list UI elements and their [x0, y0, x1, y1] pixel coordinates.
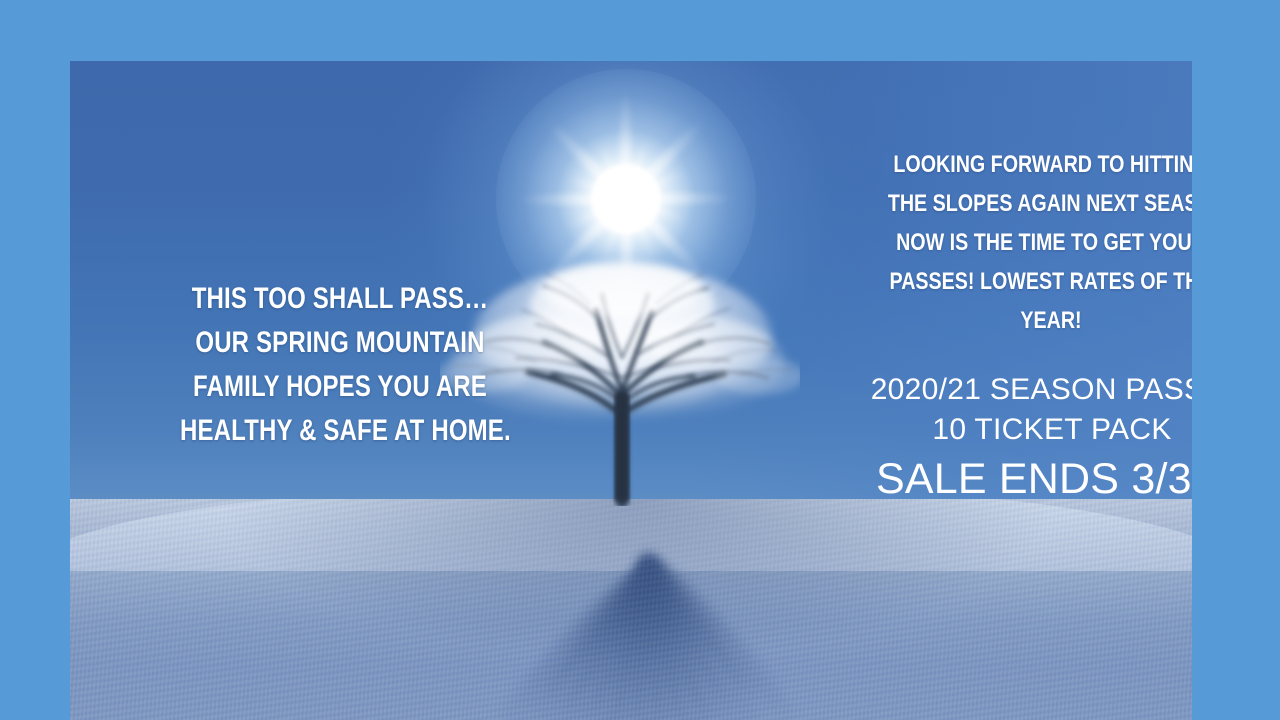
promo-headline-line-5: YEAR! [888, 301, 1192, 340]
promo-product-block: 2020/21 SEASON PASS & 10 TICKET PACK [852, 370, 1192, 450]
promo-headline-line-3: NOW IS THE TIME TO GET YOUR [888, 223, 1192, 262]
promo-headline-line-1: LOOKING FORWARD TO HITTING [888, 145, 1192, 184]
promo-headline-line-2: THE SLOPES AGAIN NEXT SEASON? [888, 184, 1192, 223]
promo-headline-block: LOOKING FORWARD TO HITTING THE SLOPES AG… [888, 145, 1192, 340]
left-message-block: THIS TOO SHALL PASS… OUR SPRING MOUNTAIN… [180, 277, 500, 453]
left-message-line-2: OUR SPRING MOUNTAIN [180, 321, 500, 365]
promo-photo: THIS TOO SHALL PASS… OUR SPRING MOUNTAIN… [70, 61, 1192, 720]
snow-field [70, 499, 1192, 720]
promo-product-line-1: 2020/21 SEASON PASS & [852, 370, 1192, 410]
slide-canvas: THIS TOO SHALL PASS… OUR SPRING MOUNTAIN… [0, 0, 1280, 720]
left-message-line-1: THIS TOO SHALL PASS… [180, 277, 500, 321]
promo-product-line-2: 10 TICKET PACK [852, 410, 1192, 450]
snow-vignette [70, 499, 1192, 720]
sun-core [591, 164, 661, 234]
left-message-line-3: FAMILY HOPES YOU ARE [180, 365, 500, 409]
promo-deadline-text: SALE ENDS 3/31! [852, 453, 1192, 505]
left-message-line-4: HEALTHY & SAFE AT HOME. [180, 409, 500, 453]
promo-headline-line-4: PASSES! LOWEST RATES OF THE [888, 262, 1192, 301]
